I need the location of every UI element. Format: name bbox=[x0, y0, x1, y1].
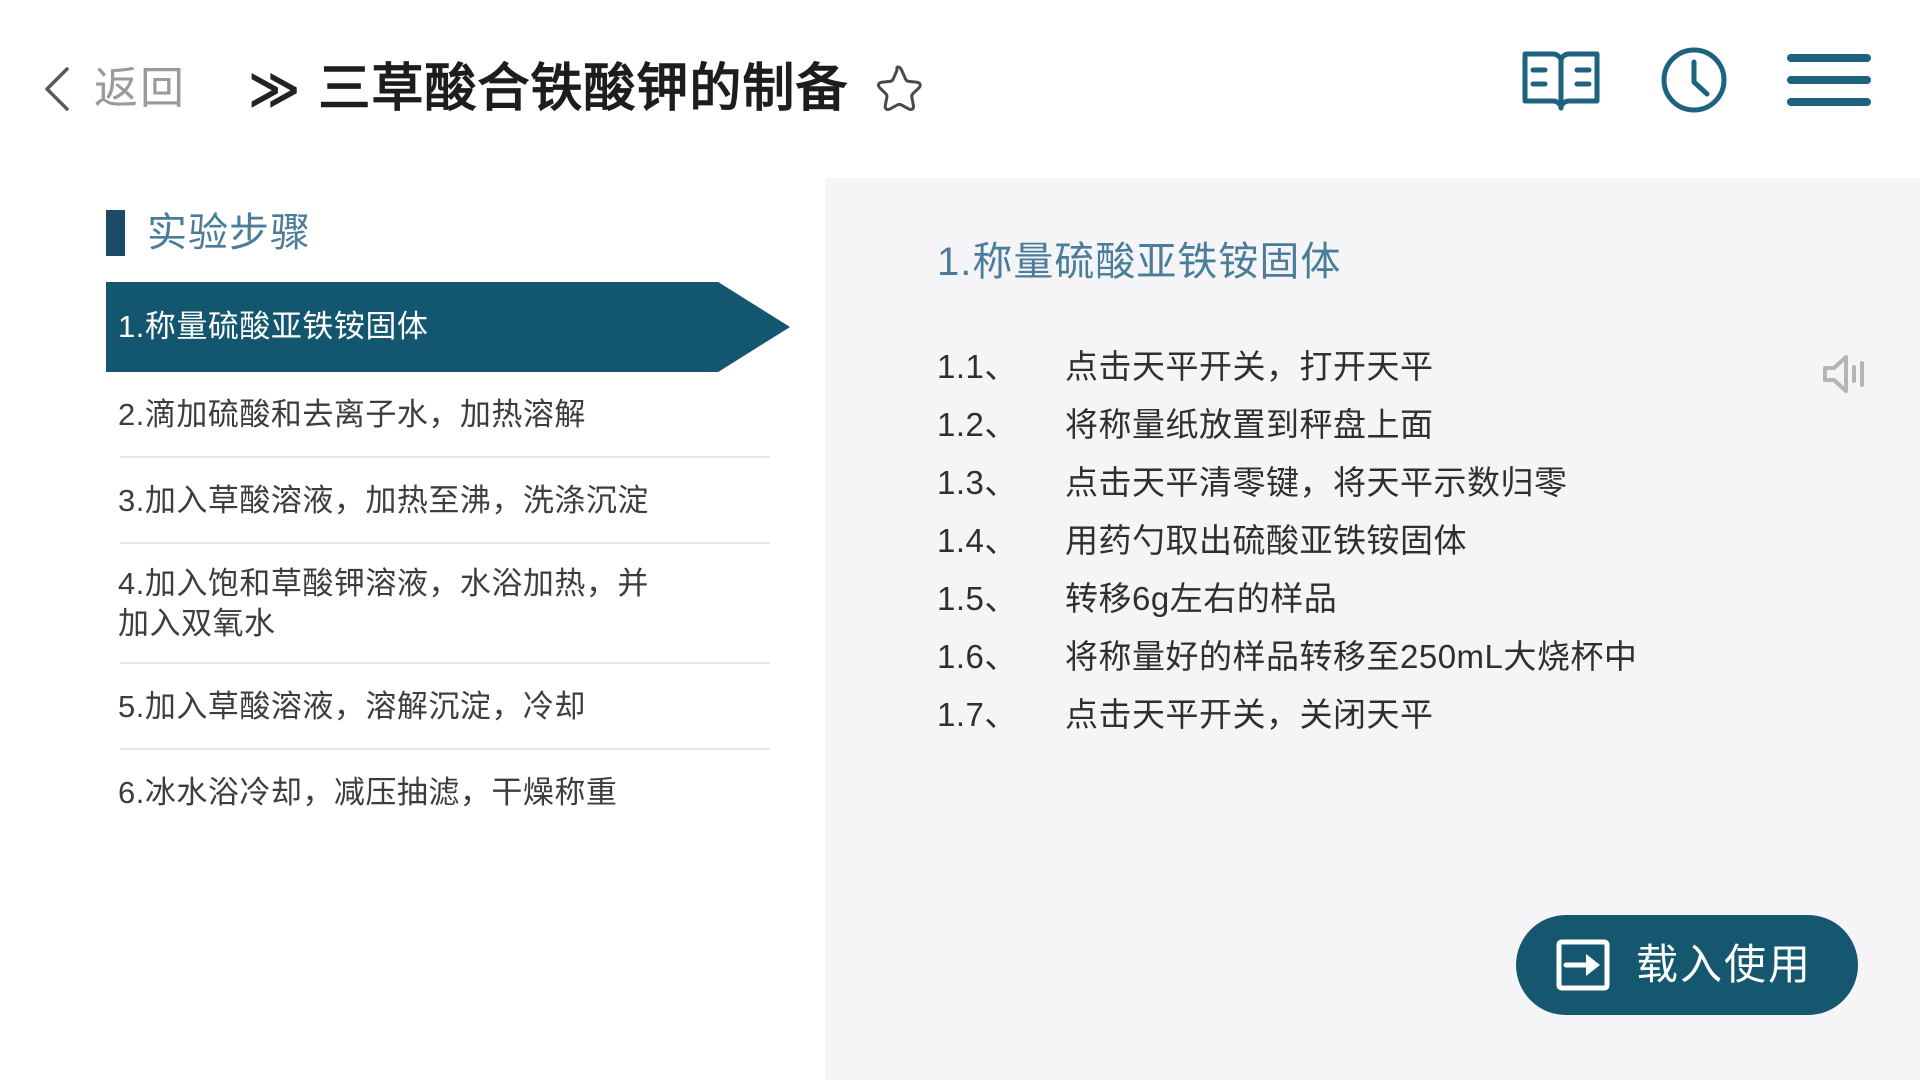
detail-item: 1.3、 点击天平清零键，将天平示数归零 bbox=[937, 456, 1920, 514]
detail-item-number: 1.6、 bbox=[937, 630, 1065, 678]
load-button-label: 载入使用 bbox=[1636, 944, 1812, 986]
section-header: 实验步骤 bbox=[106, 210, 825, 256]
chevron-left-icon bbox=[42, 66, 72, 112]
sidebar-step-label: 5.加入草酸溶液，溶解沉淀，冷却 bbox=[118, 687, 586, 727]
sidebar-step-4[interactable]: 4.加入饱和草酸钾溶液，水浴加热，并加入双氧水 bbox=[0, 544, 825, 664]
detail-item-text: 用药勺取出硫酸亚铁铵固体 bbox=[1065, 514, 1920, 562]
login-arrow-icon bbox=[1552, 936, 1614, 994]
detail-item: 1.1、 点击天平开关，打开天平 bbox=[937, 340, 1920, 398]
sidebar-step-label: 6.冰水浴冷却，减压抽滤，干燥称重 bbox=[118, 773, 617, 813]
detail-item: 1.6、 将称量好的样品转移至250mL大烧杯中 bbox=[937, 630, 1920, 688]
detail-item-text: 点击天平清零键，将天平示数归零 bbox=[1065, 456, 1920, 504]
sidebar-step-label: 1.称量硫酸亚铁铵固体 bbox=[118, 307, 428, 347]
star-outline-icon[interactable] bbox=[870, 61, 926, 117]
open-book-icon[interactable] bbox=[1520, 46, 1602, 114]
sidebar-step-label: 2.滴加硫酸和去离子水，加热溶解 bbox=[118, 395, 586, 435]
detail-item-number: 1.1、 bbox=[937, 340, 1065, 388]
detail-item-text: 将称量纸放置到秤盘上面 bbox=[1065, 398, 1920, 446]
detail-item-text: 转移6g左右的样品 bbox=[1065, 572, 1920, 620]
sidebar-step-6[interactable]: 6.冰水浴冷却，减压抽滤，干燥称重 bbox=[0, 750, 825, 836]
steps-sidebar: 实验步骤 1.称量硫酸亚铁铵固体 2.滴加硫酸和去离子水，加热溶解 3.加入草酸… bbox=[0, 178, 825, 1080]
back-label: 返回 bbox=[94, 67, 186, 111]
clock-icon[interactable] bbox=[1658, 44, 1730, 116]
detail-item-number: 1.5、 bbox=[937, 572, 1065, 620]
detail-item-text: 将称量好的样品转移至250mL大烧杯中 bbox=[1065, 630, 1920, 678]
page-title: 三草酸合铁酸钾的制备 bbox=[318, 63, 848, 115]
page-title-group: ≫ 三草酸合铁酸钾的制备 bbox=[248, 61, 926, 117]
section-accent-bar bbox=[106, 210, 125, 256]
sidebar-step-5[interactable]: 5.加入草酸溶液，溶解沉淀，冷却 bbox=[0, 664, 825, 750]
title-prefix-arrows: ≫ bbox=[248, 64, 302, 114]
back-button[interactable]: 返回 bbox=[42, 66, 186, 112]
detail-steps-list: 1.1、 点击天平开关，打开天平 1.2、 将称量纸放置到秤盘上面 1.3、 点… bbox=[937, 340, 1920, 746]
detail-item: 1.4、 用药勺取出硫酸亚铁铵固体 bbox=[937, 514, 1920, 572]
detail-title: 1.称量硫酸亚铁铵固体 bbox=[937, 242, 1920, 282]
app-header: 返回 ≫ 三草酸合铁酸钾的制备 bbox=[0, 0, 1920, 178]
detail-item-number: 1.7、 bbox=[937, 688, 1065, 736]
hamburger-menu-icon[interactable] bbox=[1786, 48, 1872, 112]
detail-item-number: 1.4、 bbox=[937, 514, 1065, 562]
detail-item: 1.2、 将称量纸放置到秤盘上面 bbox=[937, 398, 1920, 456]
section-title: 实验步骤 bbox=[147, 213, 311, 253]
detail-item-text: 点击天平开关，关闭天平 bbox=[1065, 688, 1920, 736]
sidebar-step-1[interactable]: 1.称量硫酸亚铁铵固体 bbox=[0, 282, 825, 372]
steps-list: 1.称量硫酸亚铁铵固体 2.滴加硫酸和去离子水，加热溶解 3.加入草酸溶液，加热… bbox=[0, 282, 825, 836]
step-detail-panel: 1.称量硫酸亚铁铵固体 1.1、 点击天平开关，打开天平 1.2、 将称量纸放置… bbox=[825, 178, 1920, 1080]
load-and-use-button[interactable]: 载入使用 bbox=[1516, 915, 1858, 1015]
detail-item-number: 1.2、 bbox=[937, 398, 1065, 446]
detail-item: 1.5、 转移6g左右的样品 bbox=[937, 572, 1920, 630]
sidebar-step-label: 3.加入草酸溶液，加热至沸，洗涤沉淀 bbox=[118, 481, 649, 521]
header-actions bbox=[1520, 44, 1872, 116]
sidebar-step-label: 4.加入饱和草酸钾溶液，水浴加热，并加入双氧水 bbox=[118, 564, 678, 643]
sidebar-step-2[interactable]: 2.滴加硫酸和去离子水，加热溶解 bbox=[0, 372, 825, 458]
sidebar-step-3[interactable]: 3.加入草酸溶液，加热至沸，洗涤沉淀 bbox=[0, 458, 825, 544]
detail-item-number: 1.3、 bbox=[937, 456, 1065, 504]
speaker-volume-icon[interactable] bbox=[1820, 350, 1872, 398]
detail-item: 1.7、 点击天平开关，关闭天平 bbox=[937, 688, 1920, 746]
detail-item-text: 点击天平开关，打开天平 bbox=[1065, 340, 1920, 388]
